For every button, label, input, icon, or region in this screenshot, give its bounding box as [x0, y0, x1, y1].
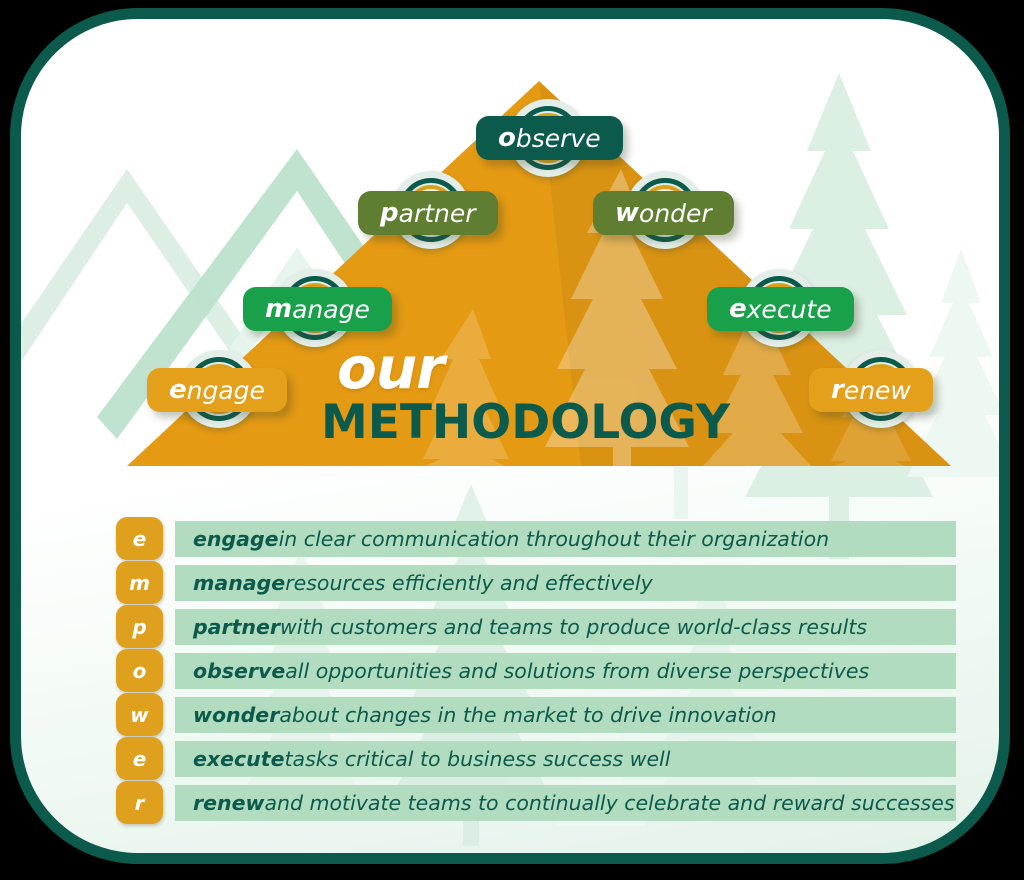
infographic-stage: our METHODOLOGY observepartnerwondermana… [0, 0, 1024, 880]
legend-row: eengage in clear communication throughou… [116, 517, 956, 560]
legend-letter-badge: p [116, 605, 163, 648]
legend-text-bar: execute tasks critical to business succe… [175, 741, 956, 777]
legend-text-bar: observe all opportunities and solutions … [175, 653, 956, 689]
legend-letter-badge: r [116, 781, 163, 824]
legend-keyword: wonder [193, 703, 279, 727]
pill-execute[interactable]: execute [707, 287, 854, 331]
pill-lead-letter: p [380, 200, 399, 226]
legend-description: all opportunities and solutions from div… [285, 659, 869, 683]
legend-keyword: execute [193, 747, 284, 771]
legend-description: and motivate teams to continually celebr… [264, 791, 954, 815]
legend-keyword: manage [193, 571, 285, 595]
pill-lead-letter: r [831, 377, 844, 403]
legend-text-bar: renew and motivate teams to continually … [175, 785, 956, 821]
pill-renew[interactable]: renew [809, 368, 933, 412]
pill-partner[interactable]: partner [358, 191, 498, 235]
pill-lead-letter: o [498, 125, 516, 151]
pill-rest-letters: enew [844, 378, 911, 403]
legend-row: ppartner with customers and teams to pro… [116, 605, 956, 648]
legend-text-bar: engage in clear communication throughout… [175, 521, 956, 557]
legend-letter-badge: m [116, 561, 163, 604]
legend-row: mmanage resources efficiently and effect… [116, 561, 956, 604]
legend-text-bar: partner with customers and teams to prod… [175, 609, 956, 645]
pill-rest-letters: ngage [187, 378, 265, 403]
legend-letter-badge: o [116, 649, 163, 692]
pill-rest-letters: bserve [516, 126, 601, 151]
pill-rest-letters: artner [399, 201, 476, 226]
legend-description: tasks critical to business success well [284, 747, 670, 771]
pill-lead-letter: e [729, 296, 747, 322]
pill-wonder[interactable]: wonder [593, 191, 734, 235]
legend-row: eexecute tasks critical to business succ… [116, 737, 956, 780]
legend-letter-badge: e [116, 737, 163, 780]
pill-manage[interactable]: manage [243, 287, 392, 331]
legend-description: resources efficiently and effectively [285, 571, 653, 595]
legend-letter-badge: w [116, 693, 163, 736]
legend-row: oobserve all opportunities and solutions… [116, 649, 956, 692]
legend-description: about changes in the market to drive inn… [279, 703, 776, 727]
legend-row: wwonder about changes in the market to d… [116, 693, 956, 736]
legend-keyword: observe [193, 659, 285, 683]
legend-text-bar: wonder about changes in the market to dr… [175, 697, 956, 733]
pill-lead-letter: m [265, 296, 292, 322]
pill-rest-letters: onder [639, 201, 712, 226]
methodology-card: our METHODOLOGY observepartnerwondermana… [10, 8, 1010, 864]
legend-letter-badge: e [116, 517, 163, 560]
pill-lead-letter: w [615, 200, 639, 226]
pill-rest-letters: xecute [747, 297, 832, 322]
pill-lead-letter: e [169, 377, 187, 403]
legend-row: rrenew and motivate teams to continually… [116, 781, 956, 824]
legend-text-bar: manage resources efficiently and effecti… [175, 565, 956, 601]
legend-keyword: engage [193, 527, 279, 551]
legend-description: with customers and teams to produce worl… [280, 615, 867, 639]
legend-description: in clear communication throughout their … [279, 527, 830, 551]
pill-observe[interactable]: observe [476, 116, 623, 160]
legend-keyword: partner [193, 615, 280, 639]
methodology-legend: eengage in clear communication throughou… [116, 517, 956, 825]
pill-rest-letters: anage [292, 297, 370, 322]
pill-engage[interactable]: engage [147, 368, 287, 412]
mountain-diagram: our METHODOLOGY observepartnerwondermana… [21, 19, 999, 489]
legend-keyword: renew [193, 791, 264, 815]
